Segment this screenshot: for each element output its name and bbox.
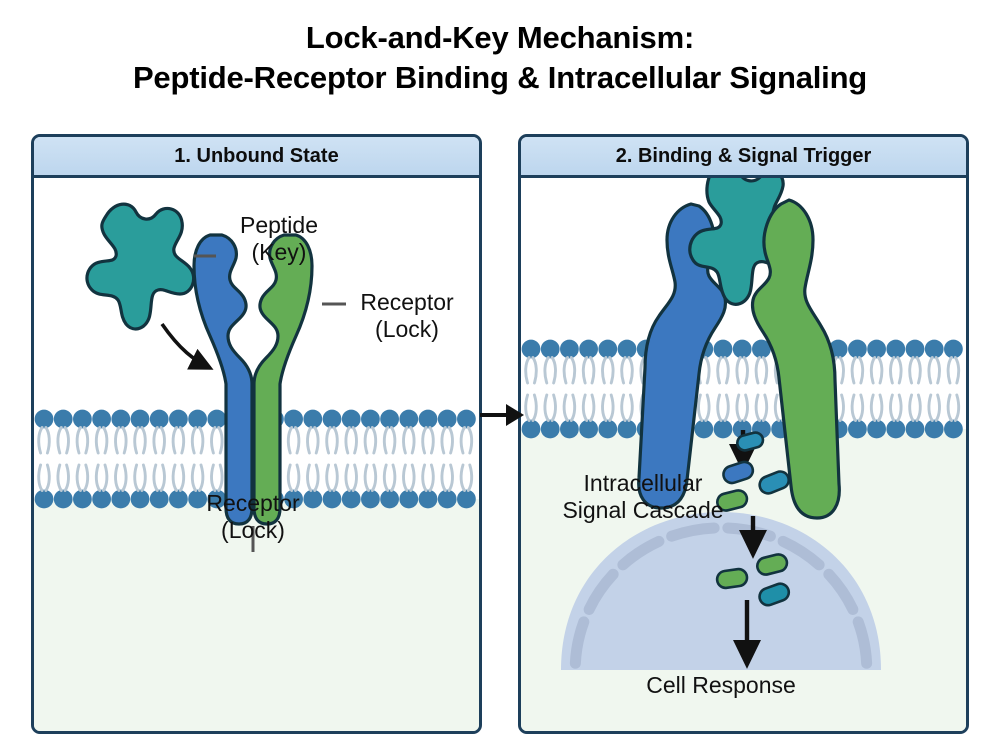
peptide-binding-arrow xyxy=(162,324,210,368)
peptide-label: Peptide (Key) xyxy=(199,212,359,266)
cell-response-label: Cell Response xyxy=(581,672,861,699)
title-line-1: Lock-and-Key Mechanism: xyxy=(306,20,694,55)
panel-transition-arrow xyxy=(478,398,526,432)
cascade-label: Intracellular Signal Cascade xyxy=(533,470,753,524)
receptor-green-subunit-1 xyxy=(254,235,312,524)
panel-unbound-state: 1. Unbound State xyxy=(31,134,482,734)
receptor-label-bottom: Receptor (Lock) xyxy=(177,490,329,544)
lipid-bilayer-upper-leaflet xyxy=(522,340,963,383)
receptor-label-right: Receptor (Lock) xyxy=(332,289,482,343)
panel-binding-signal-trigger: 2. Binding & Signal Trigger xyxy=(518,134,969,734)
panel-2-body: Intracellular Signal Cascade Cell Respon… xyxy=(521,178,966,734)
signal-molecule xyxy=(757,469,791,496)
panel-1-body: Peptide (Key) Receptor (Lock) Receptor (… xyxy=(34,178,479,734)
nucleus xyxy=(561,512,881,670)
panel-2-graphics xyxy=(521,178,966,734)
panel-2-header: 2. Binding & Signal Trigger xyxy=(521,137,966,178)
panel-1-header: 1. Unbound State xyxy=(34,137,479,178)
peptide-key-1 xyxy=(87,204,194,329)
page-title: Lock-and-Key Mechanism: Peptide-Receptor… xyxy=(0,18,1000,98)
title-line-2: Peptide-Receptor Binding & Intracellular… xyxy=(0,58,1000,98)
signal-molecule xyxy=(716,568,748,589)
